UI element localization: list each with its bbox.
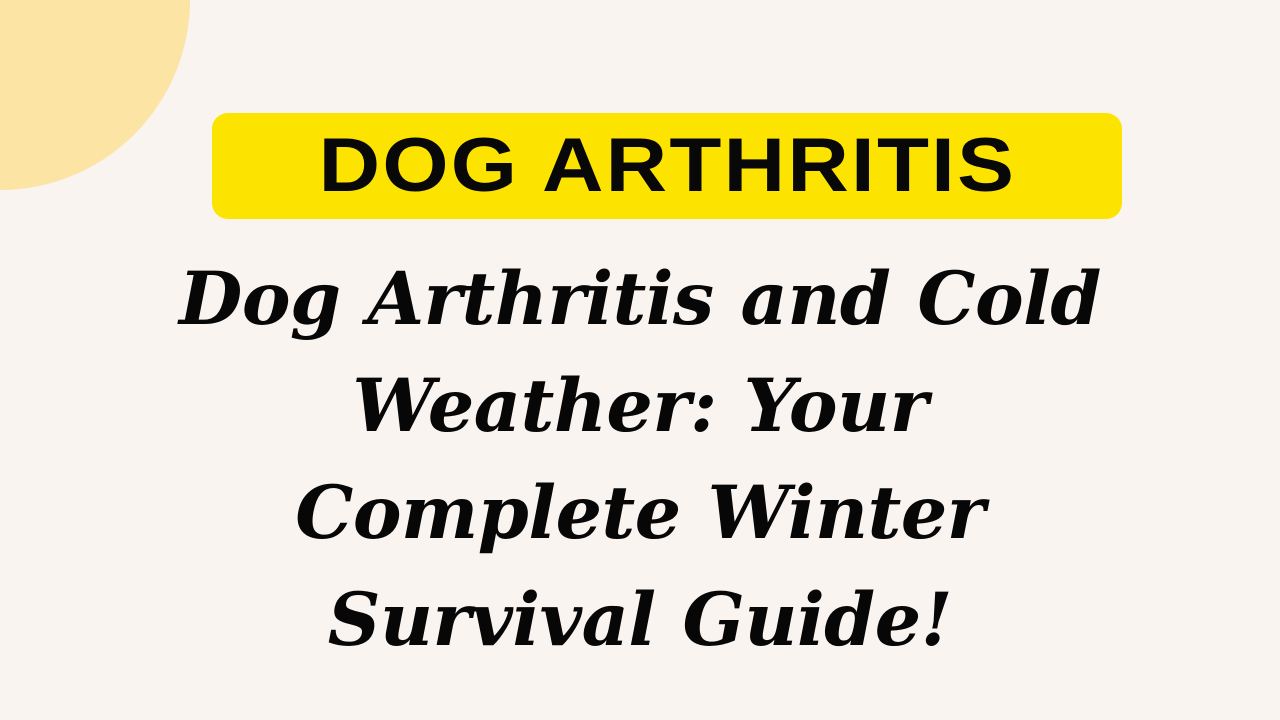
title-line-1: Dog Arthritis and Cold	[60, 246, 1220, 353]
page-title: Dog Arthritis and Cold Weather: Your Com…	[60, 246, 1220, 674]
poster-canvas: DOG ARTHRITIS Dog Arthritis and Cold Wea…	[0, 0, 1280, 720]
category-badge-label: DOG ARTHRITIS	[318, 128, 1015, 204]
title-line-3: Complete Winter	[60, 460, 1220, 567]
title-line-2: Weather: Your	[60, 353, 1220, 460]
poster-content: DOG ARTHRITIS Dog Arthritis and Cold Wea…	[0, 0, 1280, 720]
title-line-4: Survival Guide!	[60, 567, 1220, 674]
category-badge: DOG ARTHRITIS	[212, 113, 1122, 219]
